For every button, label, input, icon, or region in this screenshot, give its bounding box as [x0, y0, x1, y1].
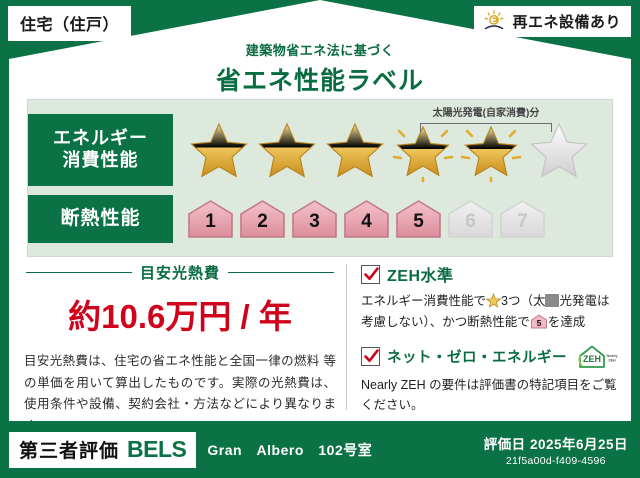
energy-label-line2: 消費性能: [63, 150, 139, 172]
insulation-level-number: 1: [186, 211, 235, 233]
energy-performance-label: 住宅（住戸） 再エネ設備あり 建築物省エネ法に基づく 省エネ性能ラベル: [0, 0, 640, 478]
star-4-solar: [390, 117, 456, 183]
performance-panel: 太陽光発電(自家消費)分 エネルギー 消費性能: [27, 99, 613, 257]
renewable-equipment-tag: 再エネ設備あり: [474, 6, 631, 37]
svg-text:ZEH: ZEH: [608, 358, 616, 362]
net-zero-block: ネット・ゼロ・エネルギー ZEH Nearly ZEH Nearly ZEH の…: [361, 344, 620, 417]
zeh-standard-block: ZEH水準 エネルギー消費性能で3つ（太光発電は考慮しない）、かつ断熱性能で5を…: [361, 262, 620, 333]
renewable-equipment-text: 再エネ設備あり: [512, 11, 621, 32]
evaluation-date: 評価日 2025年6月25日: [484, 433, 628, 453]
evaluation-date-block: 評価日 2025年6月25日 21f5a00d-f409-4596: [484, 433, 628, 467]
zeh-body-part1: エネルギー消費性能で: [361, 294, 486, 308]
insulation-label-text: 断熱性能: [60, 207, 140, 230]
insulation-level-badges: 1 2 3 4 5: [186, 198, 547, 240]
rule-right: [228, 272, 334, 273]
title-main: 省エネ性能ラベル: [0, 61, 640, 97]
vertical-divider: [346, 264, 347, 410]
bels-logo-text: BELS: [127, 436, 186, 463]
zeh-house-logo-icon: ZEH Nearly ZEH: [577, 344, 619, 370]
label-title: 建築物省エネ法に基づく 省エネ性能ラベル: [0, 40, 640, 97]
bels-certification-tag: 第三者評価 BELS: [9, 432, 196, 468]
inline-level-badge-icon: 5: [530, 314, 548, 329]
lower-content: 目安光熱費 約10.6万円 / 年 目安光熱費は、住宅の省エネ性能と全国一律の燃…: [20, 262, 620, 416]
insulation-level-number: 2: [238, 211, 287, 233]
zeh-body-part3: 光発電: [559, 294, 597, 308]
redacted-character: [545, 294, 559, 307]
insulation-badge-3: 3: [290, 198, 339, 240]
insulation-level-number: 5: [394, 211, 443, 233]
energy-performance-label: エネルギー 消費性能: [28, 114, 173, 186]
net-zero-body-line1: Nearly ZEH の要件は評価書の特記項目をご: [361, 378, 604, 392]
insulation-level-number: 3: [290, 211, 339, 233]
utility-cost-heading: 目安光熱費: [20, 262, 340, 283]
insulation-level-number: 4: [342, 211, 391, 233]
insulation-badge-1: 1: [186, 198, 235, 240]
title-subtitle: 建築物省エネ法に基づく: [0, 40, 640, 59]
zeh-body-part2: 3つ（太: [501, 294, 545, 308]
housing-type-tag: 住宅（住戸）: [8, 6, 131, 41]
insulation-performance-label: 断熱性能: [28, 195, 173, 243]
footer-bar: 第三者評価 BELS Gran Albero 102号室 評価日 2025年6月…: [0, 421, 640, 478]
svg-text:5: 5: [536, 318, 541, 328]
cost-note-line1: 目安光熱費は、住宅の省エネ性能と全国一律の燃料: [24, 354, 320, 368]
insulation-level-number: 6: [446, 211, 495, 233]
svg-text:ZEH: ZEH: [583, 354, 601, 364]
insulation-badge-7: 7: [498, 198, 547, 240]
zeh-section: ZEH水準 エネルギー消費性能で3つ（太光発電は考慮しない）、かつ断熱性能で5を…: [357, 262, 620, 416]
insulation-badge-5: 5: [394, 198, 443, 240]
insulation-performance-row: 断熱性能 1 2: [28, 195, 547, 243]
star-2: [254, 117, 320, 183]
energy-label-line1: エネルギー: [53, 128, 148, 150]
evaluation-id: 21f5a00d-f409-4596: [484, 455, 628, 467]
insulation-badge-6: 6: [446, 198, 495, 240]
utility-cost-heading-text: 目安光熱費: [140, 262, 220, 283]
zeh-standard-body: エネルギー消費性能で3つ（太光発電は考慮しない）、かつ断熱性能で5を達成: [361, 291, 620, 333]
zeh-body-part5: を達成: [548, 315, 586, 329]
insulation-badge-4: 4: [342, 198, 391, 240]
property-name: Gran Albero 102号室: [207, 440, 372, 460]
net-zero-heading: ネット・ゼロ・エネルギー ZEH Nearly ZEH: [361, 344, 620, 370]
sun-icon: [482, 10, 506, 32]
insulation-badge-2: 2: [238, 198, 287, 240]
utility-cost-value: 約10.6万円 / 年: [20, 290, 340, 338]
star-5-solar: [458, 117, 524, 183]
bels-japanese-text: 第三者評価: [19, 436, 119, 463]
net-zero-checkbox: [361, 347, 380, 366]
energy-performance-row: エネルギー 消費性能: [28, 114, 592, 186]
svg-text:Nearly: Nearly: [607, 354, 618, 358]
zeh-standard-checkbox: [361, 265, 380, 284]
insulation-level-number: 7: [498, 211, 547, 233]
utility-cost-section: 目安光熱費 約10.6万円 / 年 目安光熱費は、住宅の省エネ性能と全国一律の燃…: [20, 262, 340, 416]
rule-left: [26, 272, 132, 273]
zeh-standard-title: ZEH水準: [387, 262, 454, 286]
star-3: [322, 117, 388, 183]
zeh-standard-heading: ZEH水準: [361, 262, 620, 286]
inline-star-icon: [486, 293, 501, 308]
housing-type-text: 住宅（住戸）: [20, 17, 119, 34]
net-zero-title: ネット・ゼロ・エネルギー: [387, 346, 567, 367]
star-1: [186, 117, 252, 183]
net-zero-body: Nearly ZEH の要件は評価書の特記項目をご覧ください。: [361, 375, 620, 417]
star-rating: [186, 117, 592, 183]
star-6-empty: [526, 117, 592, 183]
